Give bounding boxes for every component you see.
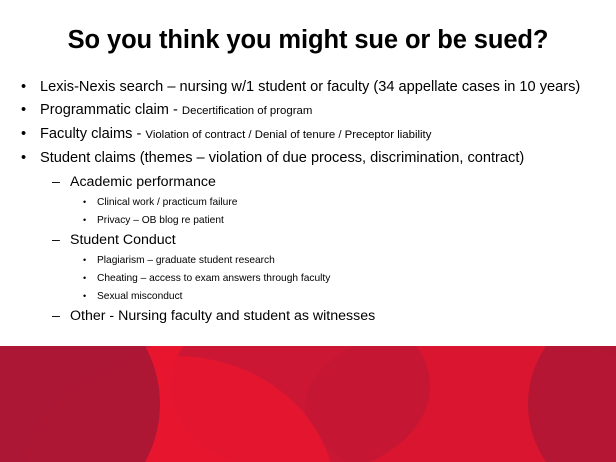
bullet-item-l2: –Student Conduct	[0, 230, 616, 250]
bullet-text: Programmatic claim -	[40, 102, 182, 118]
bullet-list: •Lexis-Nexis search – nursing w/1 studen…	[0, 78, 616, 328]
banner-shapes	[0, 346, 616, 462]
bullet-text: Sexual misconduct	[97, 291, 183, 302]
banner-ellipse-deep-right	[528, 346, 616, 462]
bullet-item-l1: •Programmatic claim - Decertification of…	[0, 101, 616, 122]
bullet-item-l2: –Other - Nursing faculty and student as …	[0, 306, 616, 326]
bullet-text: Lexis-Nexis search – nursing w/1 student…	[40, 79, 580, 95]
bullet-marker-icon: •	[21, 78, 26, 98]
bullet-item-l2: –Academic performance	[0, 172, 616, 192]
bullet-text: Other - Nursing faculty and student as w…	[70, 308, 375, 324]
bullet-text: Cheating – access to exam answers throug…	[97, 273, 330, 284]
bullet-marker-icon: •	[83, 288, 86, 306]
bullet-item-l3: •Privacy – OB blog re patient	[0, 212, 616, 230]
bullet-marker-icon: •	[83, 252, 86, 270]
bullet-marker-icon: •	[83, 212, 86, 230]
page-title: So you think you might sue or be sued?	[0, 26, 616, 54]
bullet-item-l1: •Lexis-Nexis search – nursing w/1 studen…	[0, 78, 616, 98]
bullet-marker-icon: •	[83, 194, 86, 212]
bullet-text: Student claims (themes – violation of du…	[40, 150, 524, 166]
bullet-text: Student Conduct	[70, 232, 176, 248]
bullet-subtext: Violation of contract / Denial of tenure…	[145, 129, 431, 141]
bullet-marker-icon: –	[52, 172, 60, 192]
bullet-item-l3: •Sexual misconduct	[0, 288, 616, 306]
bullet-item-l1: •Faculty claims - Violation of contract …	[0, 125, 616, 146]
bullet-text: Clinical work / practicum failure	[97, 197, 237, 208]
bullet-marker-icon: –	[52, 306, 60, 326]
bullet-item-l3: •Cheating – access to exam answers throu…	[0, 270, 616, 288]
bullet-subtext: Decertification of program	[182, 105, 312, 117]
bullet-item-l3: •Plagiarism – graduate student research	[0, 252, 616, 270]
bullet-text: Plagiarism – graduate student research	[97, 255, 275, 266]
slide-canvas: So you think you might sue or be sued? •…	[0, 0, 616, 462]
bullet-text: Academic performance	[70, 174, 216, 190]
bullet-item-l3: •Clinical work / practicum failure	[0, 194, 616, 212]
red-decorative-banner	[0, 346, 616, 462]
bullet-text: Faculty claims -	[40, 126, 145, 142]
bullet-item-l1: •Student claims (themes – violation of d…	[0, 149, 616, 169]
bullet-marker-icon: •	[21, 101, 26, 121]
bullet-marker-icon: •	[21, 149, 26, 169]
bullet-marker-icon: –	[52, 230, 60, 250]
bullet-text: Privacy – OB blog re patient	[97, 215, 224, 226]
bullet-marker-icon: •	[83, 270, 86, 288]
bullet-marker-icon: •	[21, 125, 26, 145]
banner-ellipse-deep-left	[0, 346, 160, 462]
